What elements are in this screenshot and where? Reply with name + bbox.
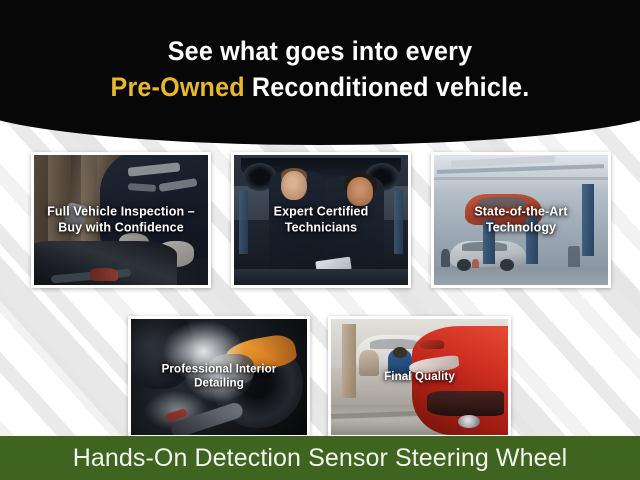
reconditioned-vehicle-banner: See what goes into every Pre-Owned Recon… xyxy=(0,0,640,480)
header-text-block: See what goes into every Pre-Owned Recon… xyxy=(0,0,640,104)
card-caption-full-vehicle-inspection: Full Vehicle Inspection – Buy with Confi… xyxy=(34,204,208,235)
card-caption-professional-interior-detailing: Professional Interior Detailing xyxy=(131,363,307,392)
card-caption-line-1: Final Quality xyxy=(336,370,503,384)
card-caption-line-1: State-of-the-Art Technology xyxy=(439,204,603,235)
headline-accent-text: Pre-Owned xyxy=(111,72,245,102)
feature-card-state-of-the-art-technology[interactable]: State-of-the-Art Technology xyxy=(431,152,611,288)
feature-card-final-quality[interactable]: Final Quality xyxy=(328,316,511,438)
card-caption-final-quality: Final Quality xyxy=(331,370,508,384)
footer-banner-text: Hands-On Detection Sensor Steering Wheel xyxy=(73,444,568,473)
footer-green-bar: Hands-On Detection Sensor Steering Wheel xyxy=(0,436,640,480)
headline-line-1: See what goes into every xyxy=(22,0,617,67)
card-caption-line-1: Full Vehicle Inspection – xyxy=(39,204,203,220)
feature-card-professional-interior-detailing[interactable]: Professional Interior Detailing xyxy=(128,316,310,438)
feature-card-expert-certified-technicians[interactable]: Expert Certified Technicians xyxy=(231,152,411,288)
card-caption-line-1: Professional Interior xyxy=(136,363,302,377)
card-caption-line-1: Expert Certified Technicians xyxy=(239,204,403,235)
card-caption-expert-certified-technicians: Expert Certified Technicians xyxy=(234,204,408,235)
headline-line-2: Pre-Owned Reconditioned vehicle. xyxy=(22,67,617,103)
header-panel: See what goes into every Pre-Owned Recon… xyxy=(0,0,640,145)
feature-card-full-vehicle-inspection[interactable]: Full Vehicle Inspection – Buy with Confi… xyxy=(31,152,211,288)
card-caption-line-2: Buy with Confidence xyxy=(39,220,203,236)
headline-line-2-rest: Reconditioned vehicle. xyxy=(245,72,530,102)
card-caption-state-of-the-art-technology: State-of-the-Art Technology xyxy=(434,204,608,235)
card-caption-line-2: Detailing xyxy=(136,377,302,391)
